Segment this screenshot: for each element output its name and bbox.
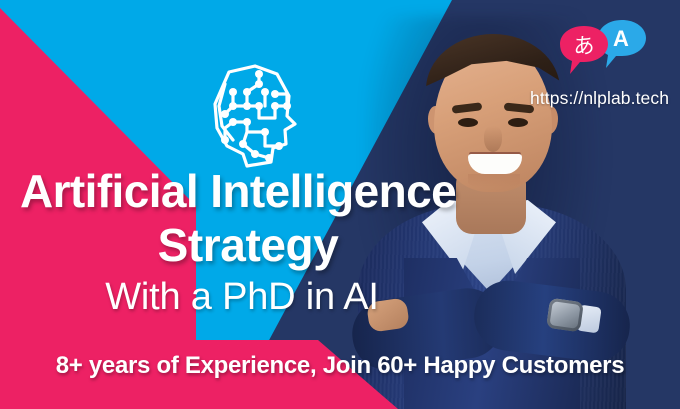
ai-circuit-head-icon <box>203 62 299 170</box>
nose <box>484 126 502 152</box>
wristwatch <box>546 298 584 332</box>
headline-subtitle: With a PhD in AI <box>0 276 540 319</box>
headline-group: Artificial Intelligence Strategy With a … <box>0 168 540 319</box>
website-url[interactable]: https://nlplab.tech <box>530 88 669 109</box>
headline-line-2: Strategy <box>0 221 540 270</box>
speech-bubble-pink-icon: あ <box>560 26 608 74</box>
svg-text:A: A <box>613 26 629 51</box>
experience-banner-text: 8+ years of Experience, Join 60+ Happy C… <box>0 352 680 380</box>
eye-left <box>458 118 478 127</box>
translation-speech-bubbles-logo: A あ <box>558 18 650 76</box>
svg-text:あ: あ <box>574 35 595 58</box>
eye-right <box>508 118 528 127</box>
gig-thumbnail-canvas: A あ https://nlplab.tech Artificial Intel… <box>0 0 680 409</box>
headline-line-1: Artificial Intelligence <box>0 168 540 215</box>
